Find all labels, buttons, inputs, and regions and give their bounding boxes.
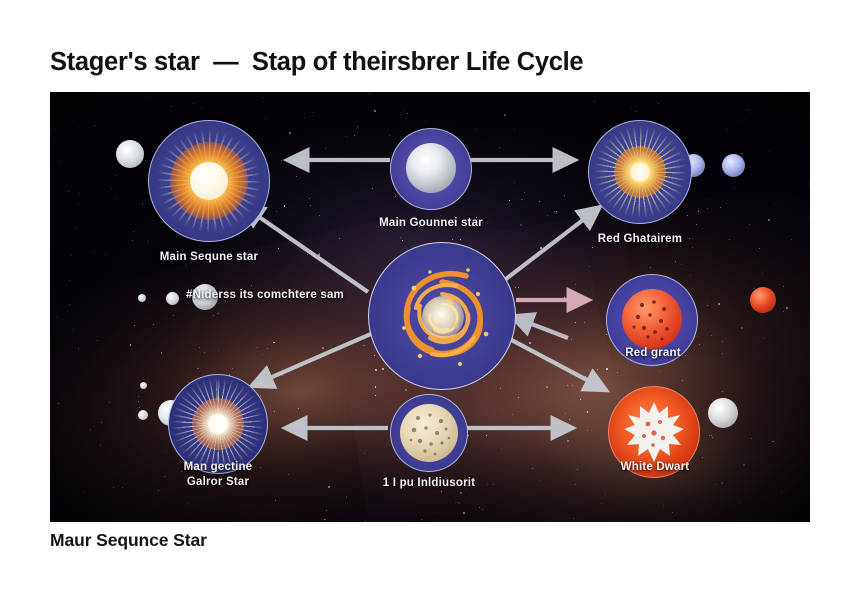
sat-left-mid-a: [138, 294, 146, 302]
inldiusorit-craters: [400, 404, 458, 462]
node-central-nebula[interactable]: [368, 242, 516, 390]
sat-right-top-b: [722, 154, 745, 177]
page-title: Stager's star — Stap of theirsbrer Life …: [50, 48, 583, 77]
diagram-panel: Main Sequne star Main Gounnei star Red G…: [50, 92, 810, 522]
arrow-nebula-to-galror: [256, 330, 380, 384]
red-ghatairem-core: [630, 162, 650, 182]
node-lpu-inldiusorit[interactable]: [390, 394, 468, 472]
label-lpu-inldiusorit: 1 I pu Inldiusorit: [349, 476, 509, 491]
label-main-gounnei-star: Main Gounnei star: [351, 216, 511, 231]
label-man-gectine-galror-star: Man gectine Galror Star: [138, 460, 298, 490]
sat-gray-small: [708, 398, 738, 428]
sat-left-mid-b: [166, 292, 179, 305]
central-nebula-core: [422, 296, 464, 338]
label-white-dwart: White Dwart: [594, 460, 716, 475]
galror-core: [208, 414, 228, 434]
arrow-white-dwart-to-nebula: [516, 318, 568, 338]
star-life-cycle-infographic: Stager's star — Stap of theirsbrer Life …: [0, 0, 860, 602]
node-main-sequne-star[interactable]: [148, 120, 270, 242]
sat-left-bottom-a: [140, 382, 147, 389]
label-main-sequne-star: Main Sequne star: [129, 250, 289, 265]
main-gounnei-sphere: [406, 143, 456, 193]
label-central-nebula: #Niderss its comchtere sam: [186, 288, 376, 303]
main-sequne-core: [190, 162, 228, 200]
label-red-grant: Red grant: [592, 346, 714, 361]
sat-red-small: [750, 287, 776, 313]
sat-left-bottom-b: [138, 410, 148, 420]
arrow-nebula-to-white-dwart: [502, 335, 602, 388]
white-dwart-starburst: [624, 402, 684, 462]
red-grant-spots: [622, 289, 682, 349]
node-red-ghatairem[interactable]: [588, 120, 692, 224]
figure-caption: Maur Sequnce Star: [50, 530, 207, 551]
label-red-ghatairem: Red Ghatairem: [560, 232, 720, 247]
node-man-gectine-galror-star[interactable]: [168, 374, 268, 474]
sat-left-top: [116, 140, 144, 168]
node-main-gounnei-star[interactable]: [390, 128, 472, 210]
